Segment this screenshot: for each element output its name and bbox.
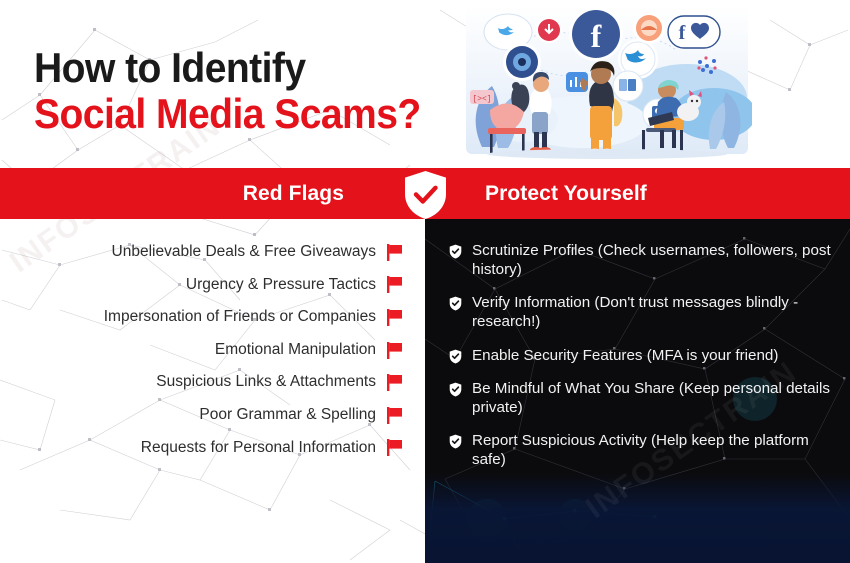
shield-check-bullet-icon xyxy=(449,382,462,397)
list-item: Report Suspicious Activity (Help keep th… xyxy=(449,431,832,469)
red-flag-label: Poor Grammar & Spelling xyxy=(199,406,376,425)
list-item: Urgency & Pressure Tactics xyxy=(0,276,403,295)
red-flags-list: Unbelievable Deals & Free Giveaways Urge… xyxy=(0,219,425,457)
red-flag-icon xyxy=(387,374,403,391)
red-flag-label: Requests for Personal Information xyxy=(141,439,376,458)
red-flag-icon xyxy=(387,276,403,293)
red-flag-icon xyxy=(387,342,403,359)
banner-protect-label: Protect Yourself xyxy=(450,168,850,219)
page-title: How to Identify Social Media Scams? xyxy=(34,46,450,137)
shield-check-bullet-icon xyxy=(449,349,462,364)
list-item: Unbelievable Deals & Free Giveaways xyxy=(0,243,403,262)
infographic-root: INFOSECTRAIN How to Identify Social Medi… xyxy=(0,0,850,563)
list-item: Poor Grammar & Spelling xyxy=(0,406,403,425)
protect-list: Scrutinize Profiles (Check usernames, fo… xyxy=(425,219,850,469)
protect-label: Verify Information (Don't trust messages… xyxy=(472,293,832,331)
list-item: Enable Security Features (MFA is your fr… xyxy=(449,346,832,365)
list-item: Impersonation of Friends or Companies xyxy=(0,308,403,327)
banner-red-flags-label: Red Flags xyxy=(0,168,400,219)
list-item: Emotional Manipulation xyxy=(0,341,403,360)
protect-label: Be Mindful of What You Share (Keep perso… xyxy=(472,379,832,417)
red-flag-icon xyxy=(387,244,403,261)
red-flag-label: Urgency & Pressure Tactics xyxy=(186,276,376,295)
shield-check-icon xyxy=(404,170,447,220)
red-flag-icon xyxy=(387,439,403,456)
list-item: Requests for Personal Information xyxy=(0,439,403,458)
bottom-glow xyxy=(425,473,850,563)
protect-label: Scrutinize Profiles (Check usernames, fo… xyxy=(472,241,832,279)
protect-label: Enable Security Features (MFA is your fr… xyxy=(472,346,778,365)
red-flags-column: Unbelievable Deals & Free Giveaways Urge… xyxy=(0,219,425,563)
title-line-1: How to Identify xyxy=(34,46,421,90)
shield-check-bullet-icon xyxy=(449,434,462,449)
red-flag-label: Suspicious Links & Attachments xyxy=(156,373,376,392)
title-line-2: Social Media Scams? xyxy=(34,90,421,137)
list-item: Suspicious Links & Attachments xyxy=(0,373,403,392)
svg-text:[><]: [><] xyxy=(472,95,491,104)
red-flag-label: Impersonation of Friends or Companies xyxy=(104,308,376,327)
red-flag-icon xyxy=(387,309,403,326)
svg-text:f: f xyxy=(679,22,686,44)
shield-check-bullet-icon xyxy=(449,296,462,311)
list-item: Scrutinize Profiles (Check usernames, fo… xyxy=(449,241,832,279)
social-media-people-illustration: f f xyxy=(462,2,752,162)
shield-check-bullet-icon xyxy=(449,244,462,259)
header: How to Identify Social Media Scams? xyxy=(0,0,850,168)
protect-label: Report Suspicious Activity (Help keep th… xyxy=(472,431,832,469)
protect-yourself-column: Scrutinize Profiles (Check usernames, fo… xyxy=(425,219,850,563)
list-item: Be Mindful of What You Share (Keep perso… xyxy=(449,379,832,417)
red-flag-icon xyxy=(387,407,403,424)
red-flag-label: Emotional Manipulation xyxy=(215,341,376,360)
list-item: Verify Information (Don't trust messages… xyxy=(449,293,832,331)
red-flag-label: Unbelievable Deals & Free Giveaways xyxy=(112,243,376,262)
